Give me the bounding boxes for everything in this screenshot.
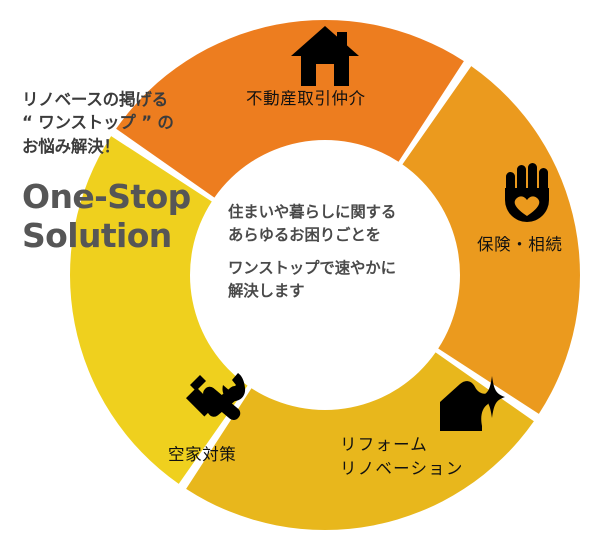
sparkle-house-icon <box>434 374 506 440</box>
brand-line: One-Stop <box>22 178 232 217</box>
tools-icon <box>180 369 256 437</box>
house-icon <box>289 24 361 92</box>
segment-label-line: リノベーション <box>340 457 464 481</box>
segment-label-line: リフォーム <box>340 433 464 457</box>
center-line: 解決します <box>228 280 448 303</box>
left-text-block: リノベースの掲げる “ ワンストップ ” の お悩み解決！ One-Stop S… <box>22 88 232 256</box>
segment-label-line: 保険・相続 <box>477 233 563 257</box>
segment-label-line: 不動産取引仲介 <box>246 87 366 111</box>
segment-label-vacant-house: 空家対策 <box>168 443 236 467</box>
lead-line: お悩み解決！ <box>22 135 232 158</box>
center-line: 住まいや暮らしに関する <box>228 201 448 224</box>
segment-label-line: 空家対策 <box>168 443 236 467</box>
center-line: あらゆるお困りごとを <box>228 224 448 247</box>
brand-title: One-Stop Solution <box>22 178 232 256</box>
hand-heart-icon <box>499 158 557 228</box>
segment-label-reform-renovation: リフォーム リノベーション <box>340 433 464 481</box>
lead-line: “ ワンストップ ” の <box>22 111 232 134</box>
brand-line: Solution <box>22 217 232 256</box>
infographic-canvas: 不動産取引仲介 保険・相続 リフォーム リノベーション 空家対策 リノベースの掲… <box>0 0 600 533</box>
center-spacer <box>228 248 448 257</box>
lead-line: リノベースの掲げる <box>22 88 232 111</box>
segment-label-insurance-inheritance: 保険・相続 <box>477 233 563 257</box>
center-line: ワンストップで速やかに <box>228 257 448 280</box>
segment-label-real-estate: 不動産取引仲介 <box>246 87 366 111</box>
center-text-block: 住まいや暮らしに関する あらゆるお困りごとを ワンストップで速やかに 解決します <box>228 201 448 304</box>
